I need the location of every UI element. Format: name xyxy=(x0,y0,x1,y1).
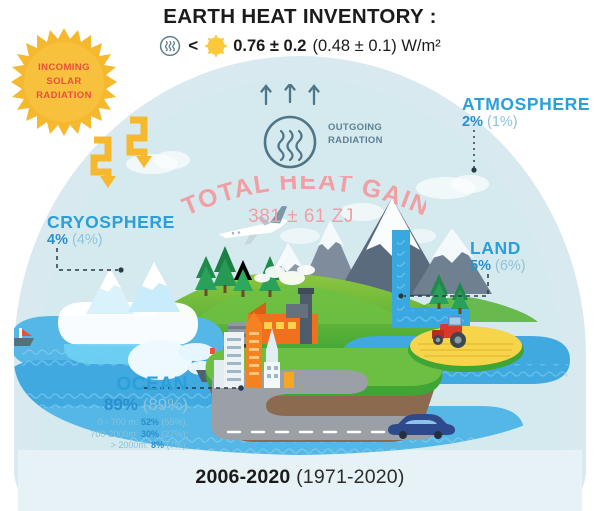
callout-ocean: OCEAN 89% (89%) 0 - 700 m: 52% (55%); 70… xyxy=(28,375,188,452)
callout-atmosphere-title: ATMOSPHERE xyxy=(462,94,590,114)
cryosphere-primary: 4% xyxy=(47,232,68,248)
callout-cryosphere: CRYOSPHERE 4% (4%) xyxy=(47,212,175,248)
callout-atmosphere-value: 2% (1%) xyxy=(462,114,590,130)
solar-line-3: RADIATION xyxy=(36,90,92,102)
callout-cryosphere-title: CRYOSPHERE xyxy=(47,212,175,232)
atmosphere-primary: 2% xyxy=(462,114,483,130)
callout-land-value: 5% (6%) xyxy=(470,258,526,274)
depth-paren: (27%); xyxy=(161,429,188,439)
callout-atmosphere: ATMOSPHERE 2% (1%) xyxy=(462,94,590,130)
callout-ocean-title: OCEAN xyxy=(28,375,188,395)
period-primary: 2006-2020 xyxy=(195,466,290,488)
ocean-depth-row: 0 - 700 m: 52% (55%); xyxy=(28,417,188,429)
depth-label: 700-2000m: xyxy=(90,429,138,439)
ocean-depth-row: 700-2000m: 30% (27%); xyxy=(28,429,188,441)
solar-line-2: SOLAR xyxy=(46,76,81,88)
depth-paren: (7%); xyxy=(166,440,188,450)
infographic-root: EARTH HEAT INVENTORY : < xyxy=(0,0,600,511)
depth-value: 8% xyxy=(151,440,164,450)
connector-cryosphere xyxy=(57,248,118,270)
connector-land xyxy=(404,274,488,296)
depth-value: 30% xyxy=(141,429,159,439)
callout-land: LAND 5% (6%) xyxy=(470,238,526,274)
callout-land-title: LAND xyxy=(470,238,526,258)
land-paren: (6%) xyxy=(495,258,526,274)
land-primary: 5% xyxy=(470,258,491,274)
period-caption: 2006-2020 (1971-2020) xyxy=(0,466,600,489)
callout-ocean-value: 89% (89%) xyxy=(28,395,188,415)
depth-label: > 2000m: xyxy=(111,440,149,450)
callout-cryosphere-value: 4% (4%) xyxy=(47,232,175,248)
ocean-depth-row: > 2000m: 8% (7%); xyxy=(28,440,188,452)
cryosphere-paren: (4%) xyxy=(72,232,103,248)
ocean-depth-breakdown: 0 - 700 m: 52% (55%); 700-2000m: 30% (27… xyxy=(28,417,188,452)
solar-zigzag-arrows xyxy=(86,114,176,190)
solar-line-1: INCOMING xyxy=(38,62,90,74)
depth-label: 0 - 700 m: xyxy=(98,417,139,427)
period-paren: (1971-2020) xyxy=(296,466,404,488)
atmosphere-paren: (1%) xyxy=(487,114,518,130)
depth-value: 52% xyxy=(141,417,159,427)
ocean-primary: 89% xyxy=(104,395,138,414)
depth-paren: (55%); xyxy=(161,417,188,427)
ocean-paren: (89%) xyxy=(143,395,188,414)
